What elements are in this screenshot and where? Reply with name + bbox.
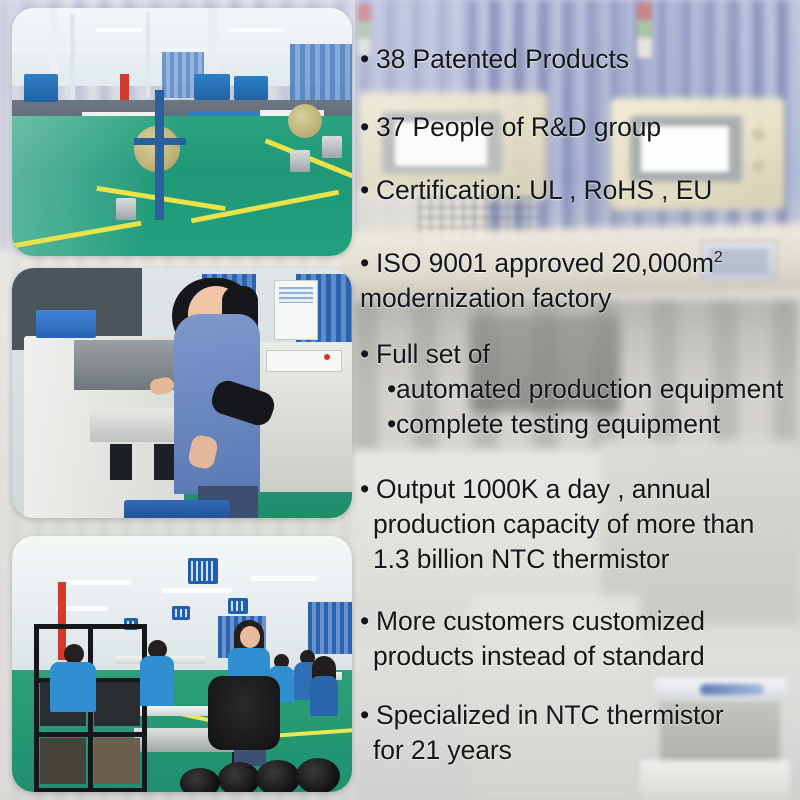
- photo1-lamp-a: [96, 28, 142, 32]
- photo3-coil-3: [296, 758, 340, 792]
- photo2-black-box-1: [110, 444, 132, 480]
- operator-machine-photo: [12, 268, 352, 518]
- assembly-hall-photo: [12, 536, 352, 792]
- bullet-line-continuation: production capacity of more than: [360, 507, 800, 542]
- photo1-blue-cabinet-5: [234, 76, 268, 100]
- bullet-marker-icon: •: [360, 110, 376, 145]
- bullet-line-continuation: for 21 years: [360, 733, 800, 768]
- bullet-text: Full set of: [376, 339, 490, 369]
- photo3-rack-rail-4: [34, 788, 147, 792]
- sub-bullet-text: automated production equipment: [396, 374, 783, 404]
- photo2-notice-board: [274, 280, 318, 340]
- bullet-marker-icon: •: [360, 173, 376, 208]
- photo1-blue-cabinet-4: [194, 74, 230, 100]
- bullet-marker-icon: •: [360, 246, 376, 281]
- bullet-line-continuation: modernization factory: [360, 281, 800, 316]
- photo1-reel-stand-base: [134, 138, 186, 145]
- bullet-marker-icon: •: [360, 604, 376, 639]
- photo3-rack-item-2: [94, 682, 140, 726]
- bullet-text: products instead of standard: [373, 641, 705, 671]
- photo2-black-box-2: [154, 444, 176, 480]
- bullet-marker-icon: •: [360, 472, 376, 507]
- photo3-rack-rail-3: [34, 732, 147, 737]
- photo3-worker-head-3: [240, 626, 260, 648]
- photo3-rack-post-1: [34, 624, 39, 792]
- photo3-rack-item-4: [94, 738, 140, 784]
- sub-bullet-line: •complete testing equipment: [360, 407, 800, 442]
- bullet-text: 1.3 billion NTC thermistor: [373, 544, 669, 574]
- photo1-reel-stand-post: [155, 90, 164, 220]
- photo2-blue-bin: [124, 500, 230, 518]
- bullet-iso-9001: •ISO 9001 approved 20,000m2 modernizatio…: [360, 246, 800, 316]
- photo1-blue-cabinet-3: [24, 74, 58, 102]
- photo1-beam-a: [12, 24, 352, 29]
- bullet-patented-products: •38 Patented Products: [360, 42, 800, 77]
- photo2-blue-crate: [36, 310, 96, 338]
- bullet-text: Output 1000K a day , annual: [376, 474, 711, 504]
- bullet-marker-icon: •: [360, 42, 376, 77]
- capability-bullet-list: •38 Patented Products •37 People of R&D …: [360, 0, 800, 800]
- photo1-spool-2: [290, 150, 310, 172]
- photo1-spool-1: [116, 198, 136, 220]
- sub-bullet-line: •automated production equipment: [360, 372, 800, 407]
- photo3-hanging-sign-3: [172, 606, 190, 620]
- bullet-rd-group: •37 People of R&D group: [360, 110, 800, 145]
- photo3-rack-post-3: [142, 624, 147, 792]
- photo3-worker-body-2: [140, 656, 174, 706]
- sub-bullet-marker-icon: •: [387, 372, 396, 407]
- bullet-line-continuation: products instead of standard: [360, 639, 800, 674]
- sub-bullet-text: complete testing equipment: [396, 409, 720, 439]
- bullet-customized-products: •More customers customized products inst…: [360, 604, 800, 674]
- bullet-marker-icon: •: [360, 337, 376, 372]
- bullet-text: production capacity of more than: [373, 509, 754, 539]
- bullet-text: Specialized in NTC thermistor: [376, 700, 724, 730]
- bullet-line: •Certification: UL , RoHS , EU: [360, 173, 800, 208]
- bullet-line: •37 People of R&D group: [360, 110, 800, 145]
- photo3-hanging-sign-1: [188, 558, 218, 584]
- bullet-text: modernization factory: [360, 283, 611, 313]
- bullet-text: 37 People of R&D group: [376, 112, 661, 142]
- bullet-text: Certification: UL , RoHS , EU: [376, 175, 712, 205]
- photo3-worker-body-6: [310, 676, 338, 716]
- bullet-full-set: •Full set of •automated production equip…: [360, 337, 800, 442]
- bullet-output-capacity: •Output 1000K a day , annual production …: [360, 472, 800, 577]
- bullet-text: More customers customized: [376, 606, 705, 636]
- bullet-line: •ISO 9001 approved 20,000m2: [360, 246, 800, 281]
- bullet-line: •Full set of: [360, 337, 800, 372]
- bullet-line: •Output 1000K a day , annual: [360, 472, 800, 507]
- photo2-indicator-light: [324, 354, 330, 360]
- photo2-right-control-panel: [266, 350, 342, 372]
- bullet-marker-icon: •: [360, 698, 376, 733]
- bullet-text: for 21 years: [373, 735, 512, 765]
- bullet-specialized-ntc: •Specialized in NTC thermistor for 21 ye…: [360, 698, 800, 768]
- photo3-dark-material-pile: [208, 676, 280, 750]
- bullet-line: •38 Patented Products: [360, 42, 800, 77]
- photo1-spool-3: [322, 136, 342, 158]
- photo3-ceiling-light-3: [250, 576, 316, 581]
- photo3-ceiling-light-1: [68, 580, 132, 585]
- bullet-line-continuation: 1.3 billion NTC thermistor: [360, 542, 800, 577]
- photo1-pipe-b: [146, 12, 150, 98]
- bullet-text: 38 Patented Products: [376, 44, 629, 74]
- photo3-rack-item-3: [40, 738, 86, 784]
- photo3-worker-head-1: [64, 644, 84, 664]
- photo3-rack-rail-1: [34, 624, 147, 629]
- photo3-worker-body-1: [50, 662, 96, 712]
- photo3-coil-1: [218, 762, 260, 792]
- sub-bullet-marker-icon: •: [387, 407, 396, 442]
- bullet-text: ISO 9001 approved 20,000m: [376, 248, 714, 278]
- production-line-photo: [12, 8, 352, 256]
- photo3-coil-2: [256, 760, 300, 792]
- photo1-lamp-b: [228, 28, 284, 32]
- bullet-certification: •Certification: UL , RoHS , EU: [360, 173, 800, 208]
- photo1-wire-reel-2: [288, 104, 322, 138]
- photo3-blue-window-2: [308, 602, 352, 654]
- photo3-coil-4: [180, 768, 220, 792]
- bullet-line: •Specialized in NTC thermistor: [360, 698, 800, 733]
- photo1-pipe-a: [70, 14, 75, 102]
- photo3-hanging-sign-2: [228, 598, 248, 614]
- square-meter-superscript: 2: [714, 249, 723, 266]
- bullet-line: •More customers customized: [360, 604, 800, 639]
- photo3-ceiling-light-2: [162, 588, 232, 593]
